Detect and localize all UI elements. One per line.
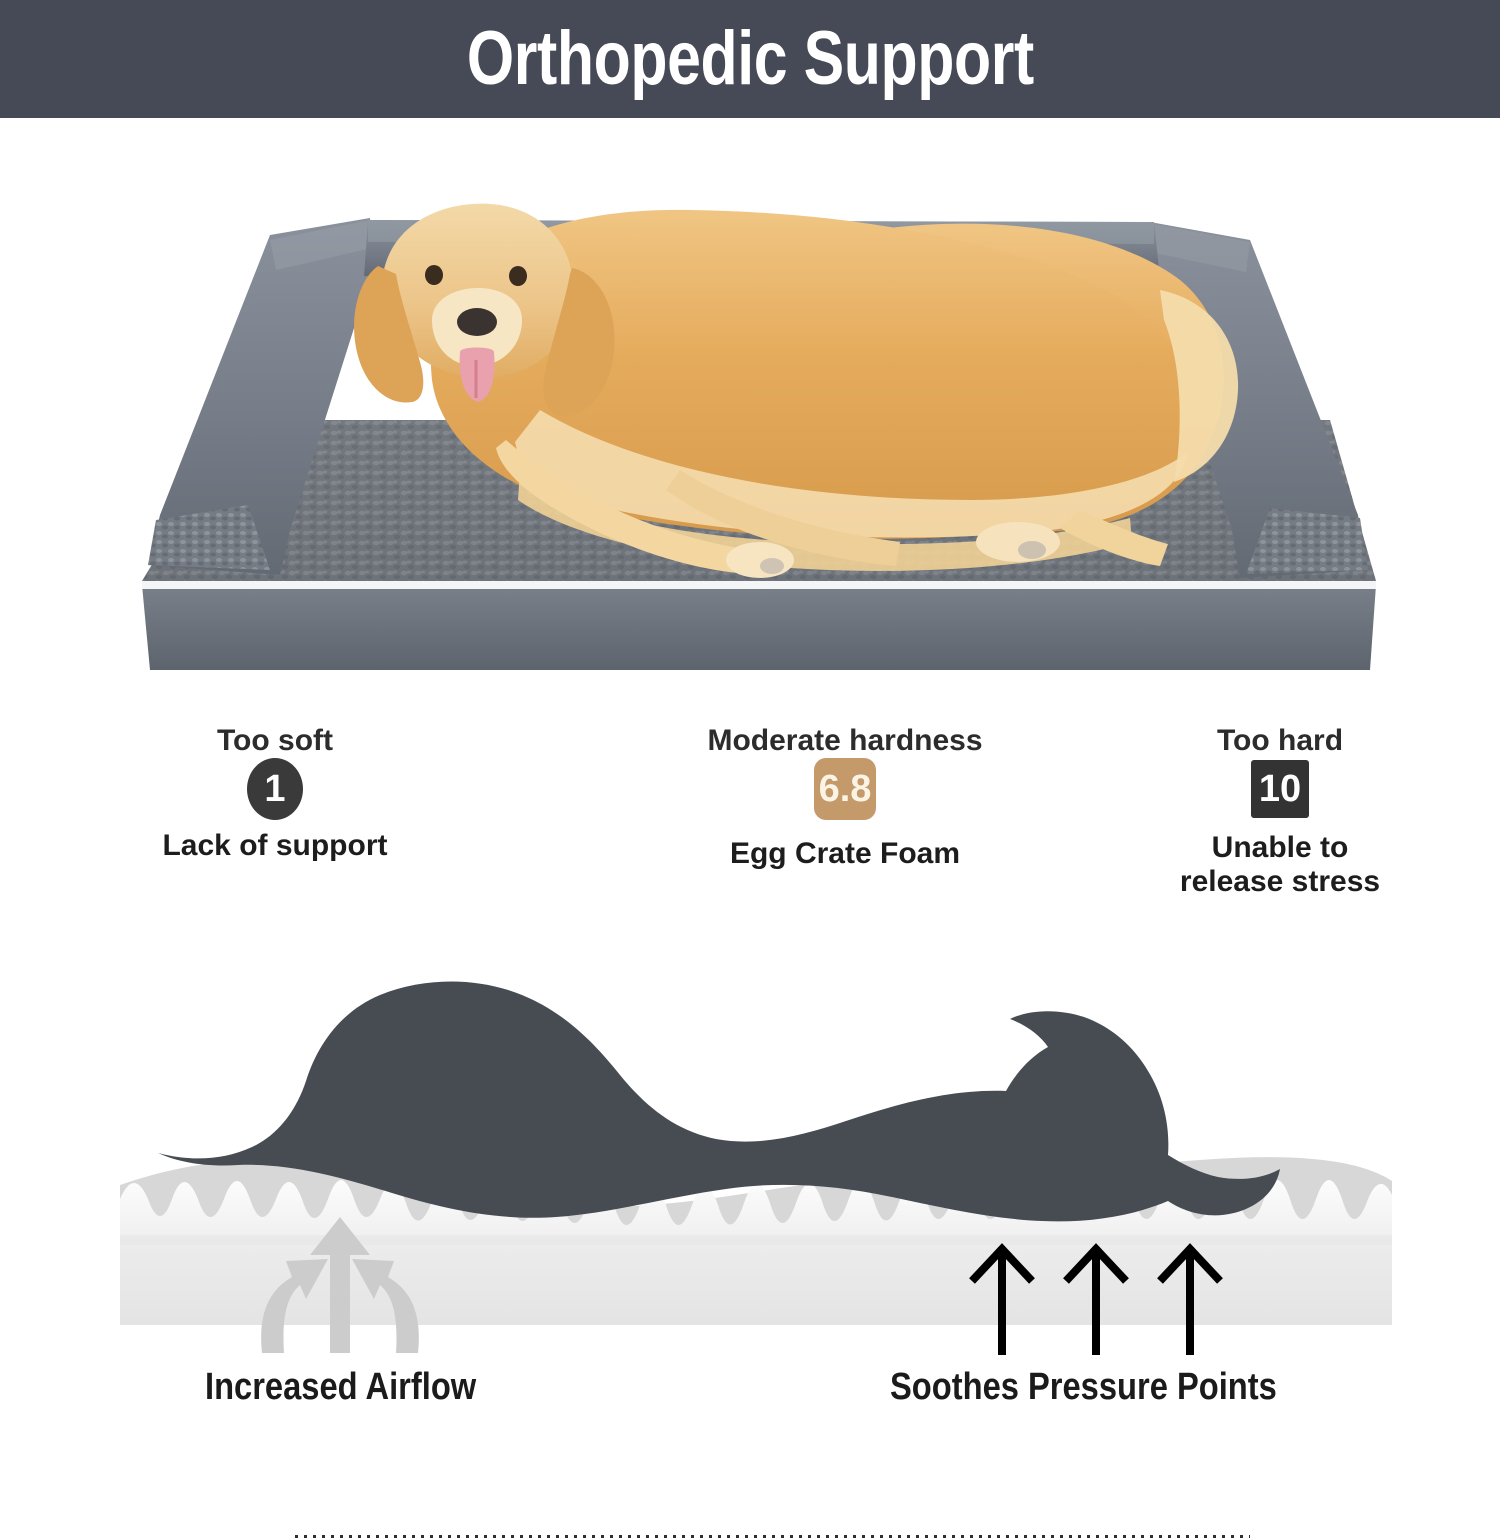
- scale-badge-row-1: 1: [95, 757, 455, 821]
- scale-badge-row-3: 10: [1100, 757, 1460, 821]
- scale-bottom-label-line-1: Unable to: [1100, 831, 1460, 865]
- scale-node-top-label-moderate-hardness: Moderate hardness: [665, 725, 1025, 757]
- page-title: Orthopedic Support: [466, 21, 1033, 97]
- foam-shadow-band: [120, 1235, 1392, 1245]
- bottom-labels: Increased Airflow Soothes Pressure Point…: [0, 1368, 1500, 1434]
- scale-badge-6-8: 6.8: [814, 758, 876, 820]
- foam-cross-section-diagram: [0, 955, 1500, 1355]
- header-banner: Orthopedic Support: [0, 0, 1500, 118]
- scale-node-too-soft: Too soft 1 Lack of support: [95, 725, 455, 863]
- product-photo-illustration: [120, 170, 1390, 700]
- label-increased-airflow: Increased Airflow: [205, 1368, 476, 1406]
- scale-badge-10: 10: [1251, 760, 1309, 818]
- scale-badge-row-2: 6.8: [665, 757, 1025, 821]
- scale-node-too-hard: Too hard 10 Unable to release stress: [1100, 725, 1460, 899]
- foam-diagram-illustration: [0, 955, 1500, 1355]
- label-soothes-pressure-points: Soothes Pressure Points: [890, 1368, 1277, 1406]
- scale-node-top-label-too-soft: Too soft: [95, 725, 455, 757]
- scale-node-bottom-label-egg-crate-foam: Egg Crate Foam: [665, 837, 1025, 871]
- scale-node-bottom-label-lack-of-support: Lack of support: [95, 829, 455, 863]
- product-photo: [120, 170, 1390, 700]
- scale-node-bottom-label-unable-to-release-stress: Unable to release stress: [1100, 831, 1460, 898]
- scale-bottom-label-line-2: release stress: [1100, 865, 1460, 899]
- scale-node-moderate-hardness: Moderate hardness 6.8 Egg Crate Foam: [665, 725, 1025, 871]
- scale-badge-1: 1: [247, 758, 303, 820]
- scale-node-top-label-too-hard: Too hard: [1100, 725, 1460, 757]
- hardness-scale: Too soft 1 Lack of support Moderate hard…: [0, 725, 1500, 935]
